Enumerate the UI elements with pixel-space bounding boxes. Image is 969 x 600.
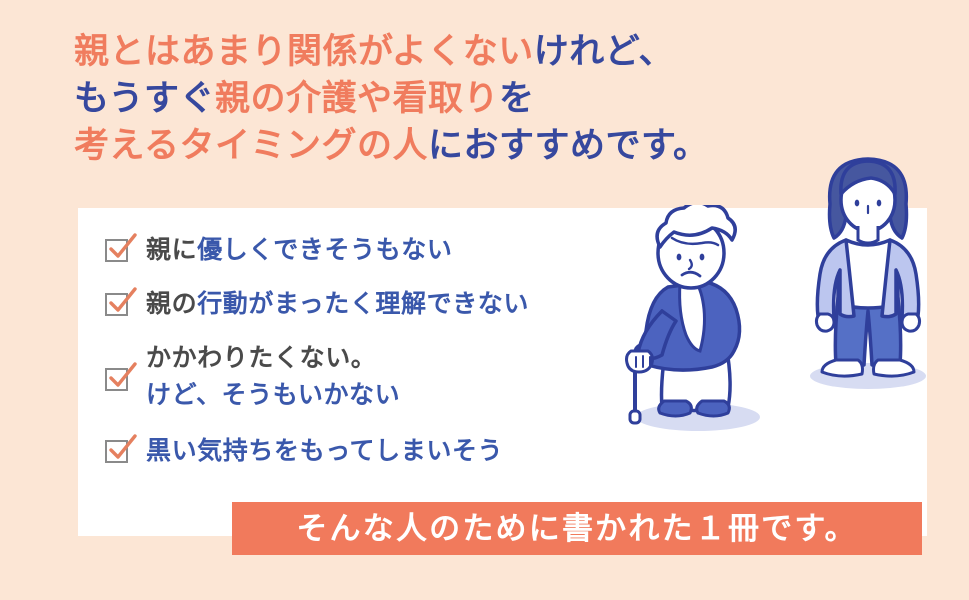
checklist: 親に優しくできそうもない 親の行動がまったく理解できない かかわりたくない。けど… [105, 232, 645, 487]
list-item[interactable]: 黒い気持ちをもってしまいそう [105, 433, 645, 470]
poster-canvas: 親とはあまり関係がよくないけれど、 もうすぐ親の介護や看取りを 考えるタイミング… [0, 0, 969, 600]
page-title-line-2-segment-3: を [499, 79, 535, 118]
page-title-line-3-segment-1: 考えるタイミングの人 [74, 126, 428, 165]
list-item-4-segment-1: 黒い気持ちをもってしまいそう [146, 437, 503, 465]
list-item-label: かかわりたくない。けど、そうもいかない [146, 340, 400, 414]
checkbox-checked-icon[interactable] [105, 239, 128, 262]
list-item-2-segment-1: 親の [146, 290, 197, 318]
page-title-line-2-segment-1: もうすぐ [74, 79, 215, 118]
call-to-action-text: そんな人のために書かれた１冊です。 [296, 513, 857, 544]
list-item-label: 親の行動がまったく理解できない [146, 286, 529, 323]
page-title-line-1-segment-2: けれど、 [534, 32, 674, 71]
checkbox-checked-icon[interactable] [105, 368, 128, 391]
list-item[interactable]: かかわりたくない。けど、そうもいかない [105, 340, 645, 414]
call-to-action-banner: そんな人のために書かれた１冊です。 [232, 502, 922, 555]
list-item-label: 親に優しくできそうもない [146, 232, 452, 269]
list-item-2-segment-2: 行動がまったく理解できない [197, 290, 529, 318]
list-item-3-line-2: けど、そうもいかない [146, 377, 400, 414]
list-item-3-line-1: かかわりたくない。 [146, 340, 400, 377]
page-title-line-3: 考えるタイミングの人におすすめです。 [74, 122, 814, 169]
list-item-1-segment-2: 優しくできそうもない [197, 236, 452, 264]
page-title: 親とはあまり関係がよくないけれど、 もうすぐ親の介護や看取りを 考えるタイミング… [74, 28, 814, 169]
checkbox-checked-icon[interactable] [105, 440, 128, 463]
standing-woman-illustration [788, 148, 948, 393]
page-title-line-1-segment-1: 親とはあまり関係がよくない [74, 32, 534, 71]
list-item[interactable]: 親の行動がまったく理解できない [105, 286, 645, 323]
page-title-line-3-segment-2: におすすめです。 [428, 126, 709, 165]
list-item[interactable]: 親に優しくできそうもない [105, 232, 645, 269]
list-item-1-segment-1: 親に [146, 236, 197, 264]
page-title-line-2: もうすぐ親の介護や看取りを [74, 75, 814, 122]
list-item-label: 黒い気持ちをもってしまいそう [146, 433, 503, 470]
page-title-line-2-segment-2: 親の介護や看取り [215, 79, 499, 118]
checkbox-checked-icon[interactable] [105, 293, 128, 316]
page-title-line-1: 親とはあまり関係がよくないけれど、 [74, 28, 814, 75]
